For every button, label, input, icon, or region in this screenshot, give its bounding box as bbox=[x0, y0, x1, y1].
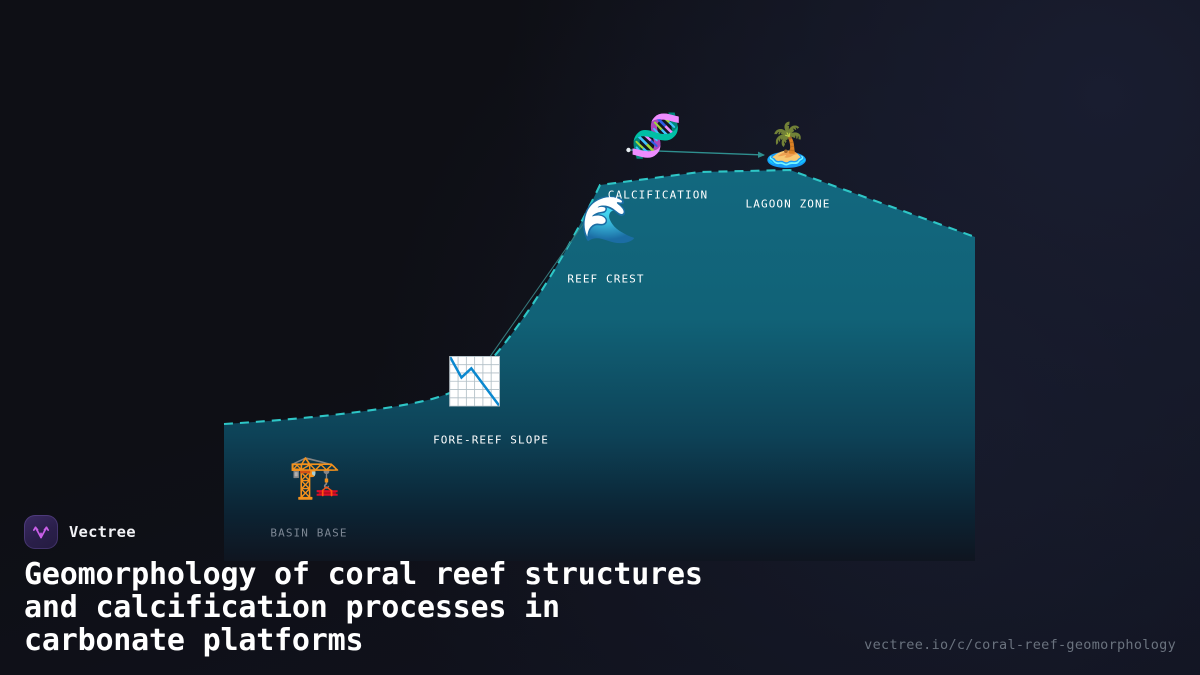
brand-name: Vectree bbox=[69, 523, 136, 541]
zone-label-reef-crest: REEF CREST bbox=[567, 273, 644, 286]
ocean-wave-icon[interactable]: 🌊 bbox=[580, 196, 637, 242]
dna-helix-icon[interactable]: 🧬 bbox=[630, 115, 682, 157]
slide-canvas: 🏗️ 📉 🌊 🧬 🏝️ BASIN BASE FORE-REEF SLOPE R… bbox=[0, 0, 1200, 675]
brand-row[interactable]: Vectree bbox=[24, 515, 1176, 549]
zone-label-calcification: CALCIFICATION bbox=[608, 189, 708, 202]
chart-decreasing-icon[interactable]: 📉 bbox=[446, 358, 503, 404]
construction-crane-icon[interactable]: 🏗️ bbox=[289, 456, 341, 498]
desert-island-icon[interactable]: 🏝️ bbox=[761, 124, 813, 166]
page-title: Geomorphology of coral reef structures a… bbox=[24, 558, 924, 657]
zone-label-fore-reef-slope: FORE-REEF SLOPE bbox=[433, 434, 549, 447]
zone-label-lagoon-zone: LAGOON ZONE bbox=[746, 198, 831, 211]
site-url[interactable]: vectree.io/c/coral-reef-geomorphology bbox=[864, 637, 1176, 653]
vectree-v-logo-icon bbox=[24, 515, 58, 549]
